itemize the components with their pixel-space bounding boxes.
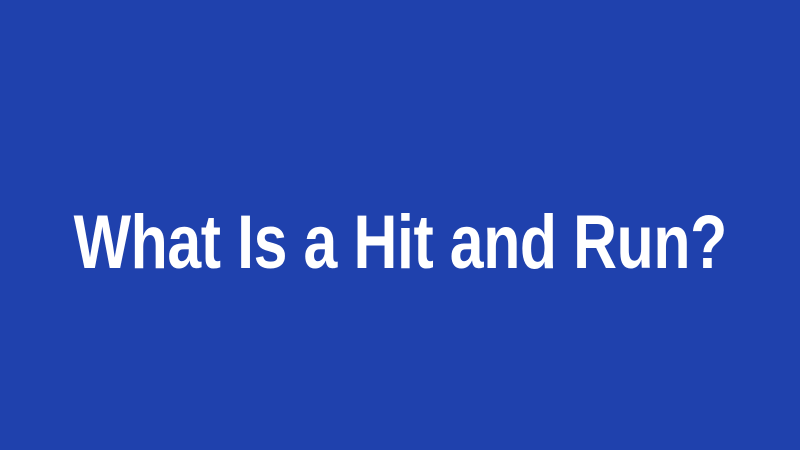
- slide-canvas: What Is a Hit and Run?: [0, 0, 800, 450]
- page-title: What Is a Hit and Run?: [73, 205, 726, 281]
- headline-block: What Is a Hit and Run?: [0, 18, 800, 450]
